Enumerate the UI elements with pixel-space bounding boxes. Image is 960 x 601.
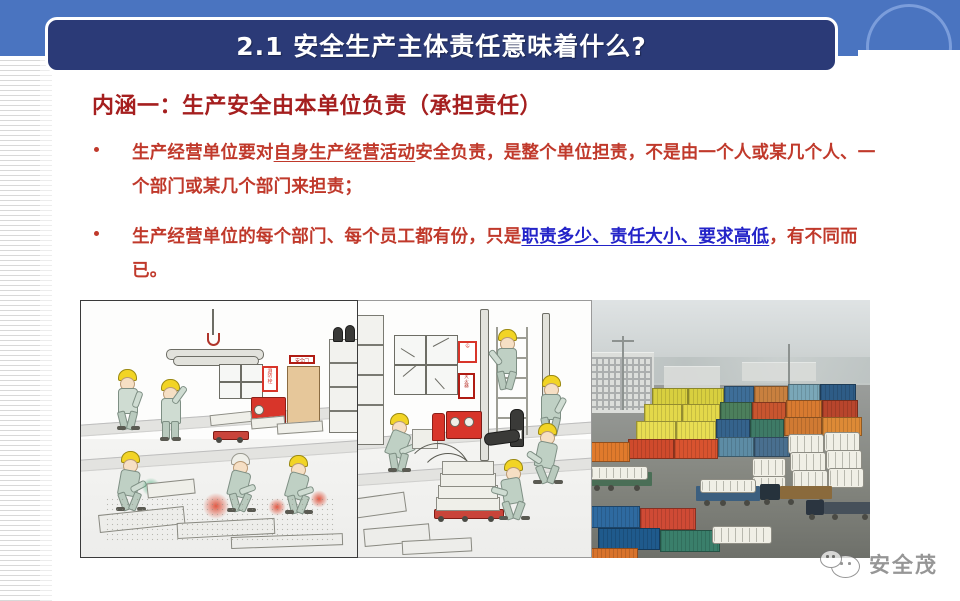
bullet-list: 生产经营单位要对自身生产经营活动安全负责，是整个单位担责，不是由一个人或某几个人… xyxy=(92,136,892,289)
section-heading: 内涵一：生产安全由本单位负责（承担责任） xyxy=(92,88,892,120)
slide-body: 内涵一：生产安全由本单位负责（承担责任） 生产经营单位要对自身生产经营活动安全负… xyxy=(92,88,892,305)
figure-workshop-welding-illustration: 消防栓 安全门 xyxy=(80,300,358,558)
bullet-2-seg-2-emphasis: 职责多少、责任大小、要求高低 xyxy=(521,227,769,247)
left-striped-rail-fade xyxy=(40,56,52,601)
slide-canvas: 2.1 安全生产主体责任意味着什么? 内涵一：生产安全由本单位负责（承担责任） … xyxy=(0,0,960,601)
bullet-item-2: 生产经营单位的每个部门、每个员工都有份，只是职责多少、责任大小、要求高低，有不同… xyxy=(92,220,892,288)
watermark-text: 安全茂 xyxy=(869,549,938,579)
wechat-bubble-small xyxy=(820,550,842,568)
page-title: 2.1 安全生产主体责任意味着什么? xyxy=(236,27,647,63)
slide-title-bar: 2.1 安全生产主体责任意味着什么? xyxy=(45,17,838,73)
wechat-icon xyxy=(820,550,860,578)
label-extinguisher-sign: 灭火器 xyxy=(458,373,475,399)
figure-scaffold-cylinder-illustration: 灭火器 ⛑ xyxy=(358,300,592,558)
bullet-2-seg-1: 生产经营单位的每个部门、每个员工都有份，只是 xyxy=(132,227,521,247)
figure-strip: 消防栓 安全门 xyxy=(80,300,870,558)
label-safety-door-sign: 安全门 xyxy=(289,355,315,364)
left-striped-rail xyxy=(0,56,40,601)
bullet-dot-icon xyxy=(94,147,99,152)
bullet-dot-icon xyxy=(94,231,99,236)
bullet-1-seg-2-emphasis: 自身生产经营活动 xyxy=(274,143,416,163)
watermark: 安全茂 xyxy=(820,549,938,579)
bullet-item-1: 生产经营单位要对自身生产经营活动安全负责，是整个单位担责，不是由一个人或某几个人… xyxy=(92,136,892,204)
label-fire-hydrant-sign: 消防栓 xyxy=(262,366,278,392)
bullet-1-seg-1: 生产经营单位要对 xyxy=(132,143,274,163)
figure-container-yard-photo xyxy=(592,300,870,558)
